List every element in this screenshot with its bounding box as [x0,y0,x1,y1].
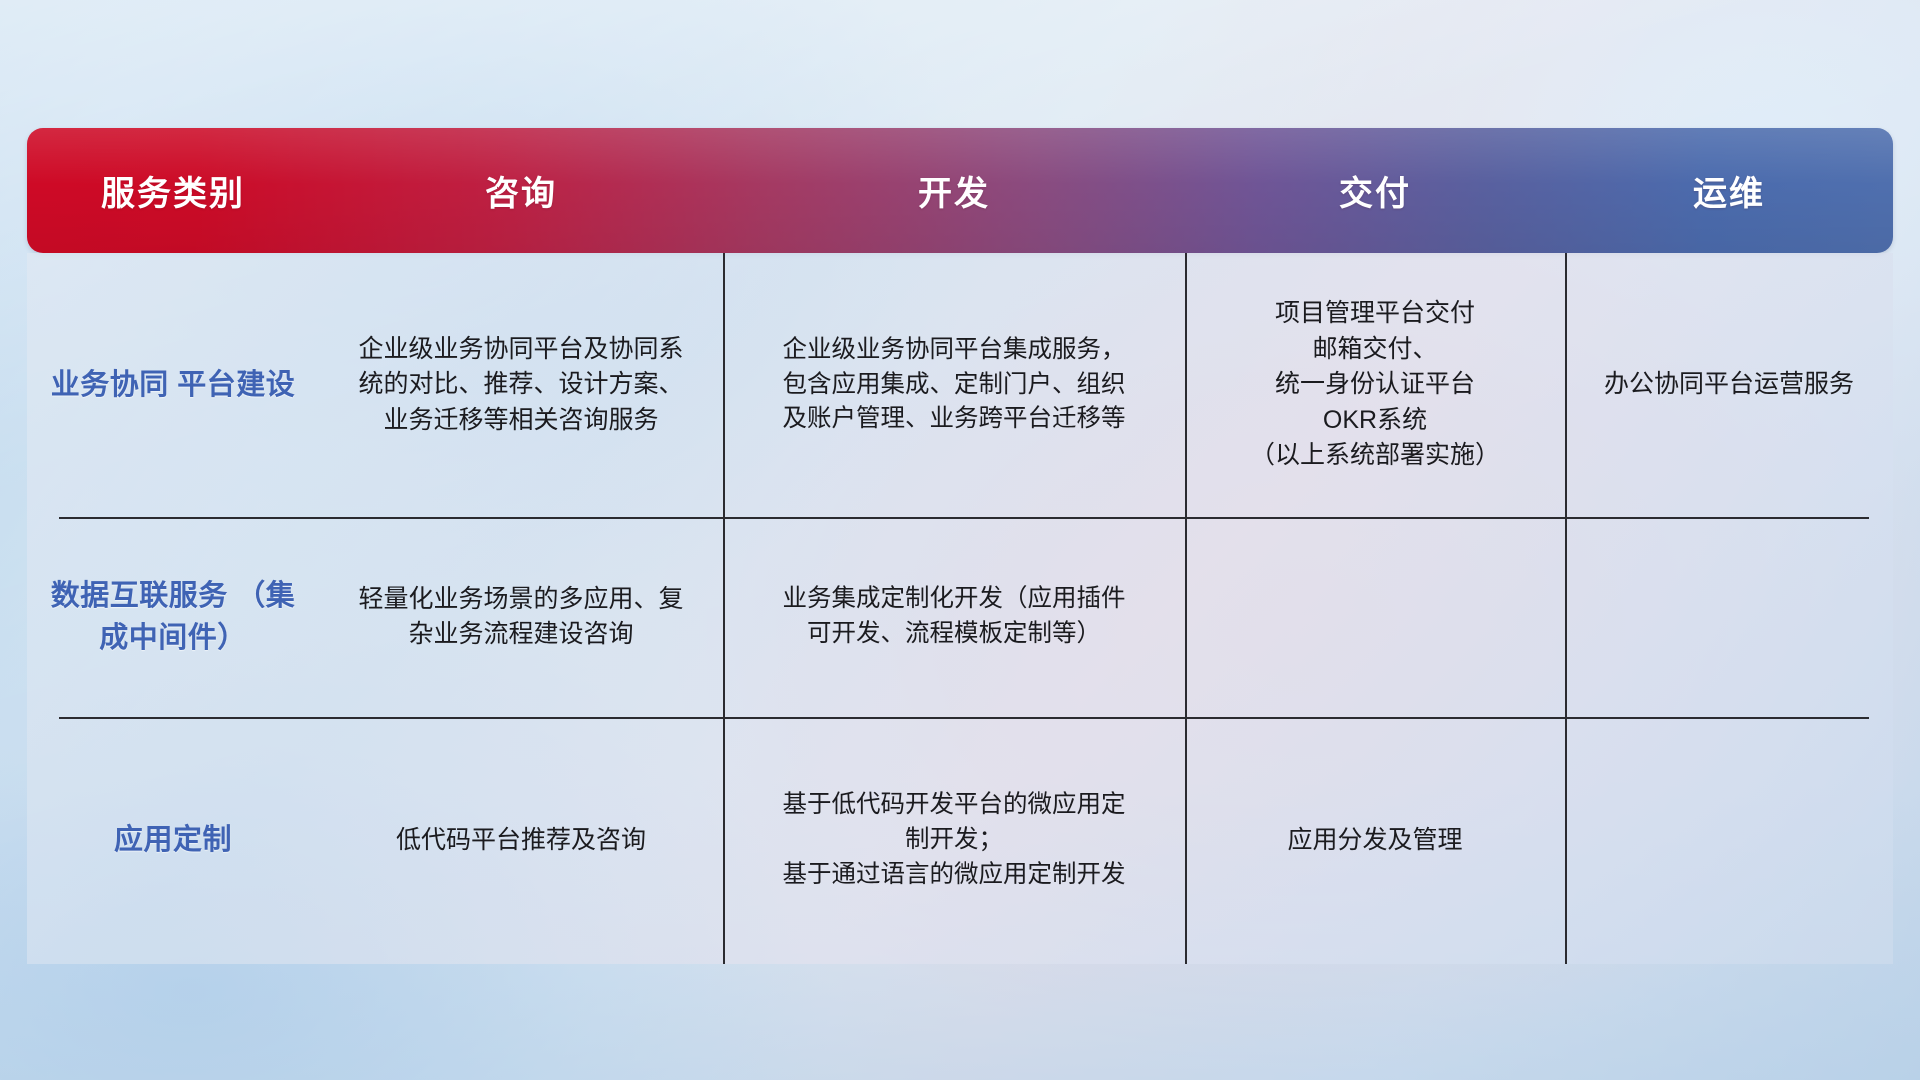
cell-operations [1565,517,1893,717]
cell-text: 低代码平台推荐及咨询 [396,823,646,859]
row-label-cell: 业务协同 平台建设 [27,253,319,517]
cell-operations [1565,717,1893,964]
cell-text: 企业级业务协同平台集成服务， 包含应用集成、定制门户、组织 及账户管理、业务跨平… [783,333,1126,437]
column-header-operations: 运维 [1565,166,1893,215]
row-label-text: 业务协同 平台建设 [51,364,296,406]
table-header-row: 服务类别 咨询 开发 交付 运维 [27,128,1893,253]
row-label-cell: 应用定制 [27,717,319,964]
cell-text: 应用分发及管理 [1287,823,1462,859]
cell-development: 企业级业务协同平台集成服务， 包含应用集成、定制门户、组织 及账户管理、业务跨平… [723,253,1185,517]
cell-operations: 办公协同平台运营服务 [1565,253,1893,517]
column-header-delivery: 交付 [1185,166,1565,215]
cell-text: 基于低代码开发平台的微应用定 制开发； 基于通过语言的微应用定制开发 [783,788,1126,892]
table-row: 应用定制 低代码平台推荐及咨询 基于低代码开发平台的微应用定 制开发； 基于通过… [27,717,1893,964]
cell-development: 业务集成定制化开发（应用插件 可开发、流程模板定制等） [723,517,1185,717]
service-matrix-table: 服务类别 咨询 开发 交付 运维 业务协同 平台建设 企业级业务协同平台及协同系… [27,128,1893,964]
cell-consulting: 低代码平台推荐及咨询 [319,717,723,964]
cell-delivery: 应用分发及管理 [1185,717,1565,964]
table-row: 数据互联服务 （集成中间件） 轻量化业务场景的多应用、复 杂业务流程建设咨询 业… [27,517,1893,717]
row-label-text: 数据互联服务 （集成中间件） [39,575,307,659]
cell-development: 基于低代码开发平台的微应用定 制开发； 基于通过语言的微应用定制开发 [723,717,1185,964]
cell-delivery: 项目管理平台交付 邮箱交付、 统一身份认证平台 OKR系统 （以上系统部署实施） [1185,253,1565,517]
cell-text: 项目管理平台交付 邮箱交付、 统一身份认证平台 OKR系统 （以上系统部署实施） [1250,296,1500,474]
cell-text: 企业级业务协同平台及协同系 统的对比、推荐、设计方案、 业务迁移等相关咨询服务 [358,332,683,439]
cell-consulting: 企业级业务协同平台及协同系 统的对比、推荐、设计方案、 业务迁移等相关咨询服务 [319,253,723,517]
column-header-consulting: 咨询 [319,166,723,215]
row-label-text: 应用定制 [114,819,232,861]
cell-text: 办公协同平台运营服务 [1604,367,1854,403]
cell-text: 轻量化业务场景的多应用、复 杂业务流程建设咨询 [358,582,683,653]
column-header-service-category: 服务类别 [27,166,319,215]
table-row: 业务协同 平台建设 企业级业务协同平台及协同系 统的对比、推荐、设计方案、 业务… [27,253,1893,517]
cell-consulting: 轻量化业务场景的多应用、复 杂业务流程建设咨询 [319,517,723,717]
cell-delivery [1185,517,1565,717]
column-header-development: 开发 [723,166,1185,215]
row-label-cell: 数据互联服务 （集成中间件） [27,517,319,717]
table-body: 业务协同 平台建设 企业级业务协同平台及协同系 统的对比、推荐、设计方案、 业务… [27,253,1893,964]
cell-text: 业务集成定制化开发（应用插件 可开发、流程模板定制等） [783,582,1126,652]
